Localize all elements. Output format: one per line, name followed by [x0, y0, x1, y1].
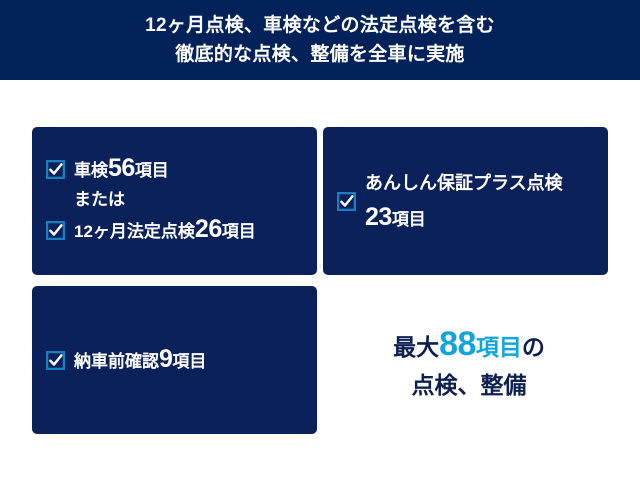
checkbox-checked-icon	[46, 351, 65, 370]
header-banner: 12ヶ月点検、車検などの法定点検を含む 徹底的な点検、整備を全車に実施	[0, 0, 640, 80]
label-suffix: 項目	[222, 222, 256, 241]
summary-particle: の	[522, 334, 545, 360]
label-number: 23	[365, 203, 392, 231]
warranty-plus-count: 23項目	[365, 200, 563, 237]
card-vehicle-inspection: 車検56項目 または 12ヶ月法定点検26項目	[32, 127, 317, 275]
label-suffix: 項目	[172, 352, 206, 371]
check-row-vehicle-inspection: 車検56項目	[46, 157, 303, 182]
label-text: 納車前確認	[74, 352, 159, 371]
label-suffix: 項目	[135, 161, 169, 180]
card-predelivery-check: 納車前確認9項目	[32, 286, 317, 434]
label-text: 12ヶ月法定点検	[74, 222, 195, 241]
warranty-plus-text: あんしん保証プラス点検 23項目	[365, 166, 563, 237]
summary-line-2: 点検、整備	[330, 366, 608, 404]
header-title-line-2: 徹底的な点検、整備を全車に実施	[175, 40, 465, 69]
check-row-label: 納車前確認9項目	[74, 348, 206, 373]
summary-number: 88	[439, 325, 476, 363]
check-row-label: 12ヶ月法定点検26項目	[74, 218, 256, 243]
checkbox-checked-icon	[46, 221, 65, 240]
card-warranty-plus: あんしん保証プラス点検 23項目	[323, 127, 608, 275]
check-row-legal-inspection: 12ヶ月法定点検26項目	[46, 218, 303, 243]
conjunction-label: または	[74, 189, 303, 211]
summary-total-items: 最大88項目の 点検、整備	[330, 325, 608, 404]
header-title-line-1: 12ヶ月点検、車検などの法定点検を含む	[145, 11, 495, 40]
summary-line-1: 最大88項目の	[330, 325, 608, 366]
label-number: 56	[108, 154, 135, 182]
inspection-summary-page: 12ヶ月点検、車検などの法定点検を含む 徹底的な点検、整備を全車に実施 車検56…	[0, 0, 640, 480]
check-row-label: 車検56項目	[74, 157, 169, 182]
label-number: 26	[195, 215, 222, 243]
summary-prefix: 最大	[393, 334, 439, 360]
label-number: 9	[159, 345, 172, 373]
check-row-predelivery: 納車前確認9項目	[46, 348, 206, 373]
label-text: 車検	[74, 161, 108, 180]
checkbox-checked-icon	[46, 160, 65, 179]
warranty-plus-title: あんしん保証プラス点検	[365, 166, 563, 200]
checkbox-checked-icon	[337, 192, 356, 211]
label-suffix: 項目	[392, 210, 426, 229]
summary-unit: 項目	[476, 334, 522, 360]
